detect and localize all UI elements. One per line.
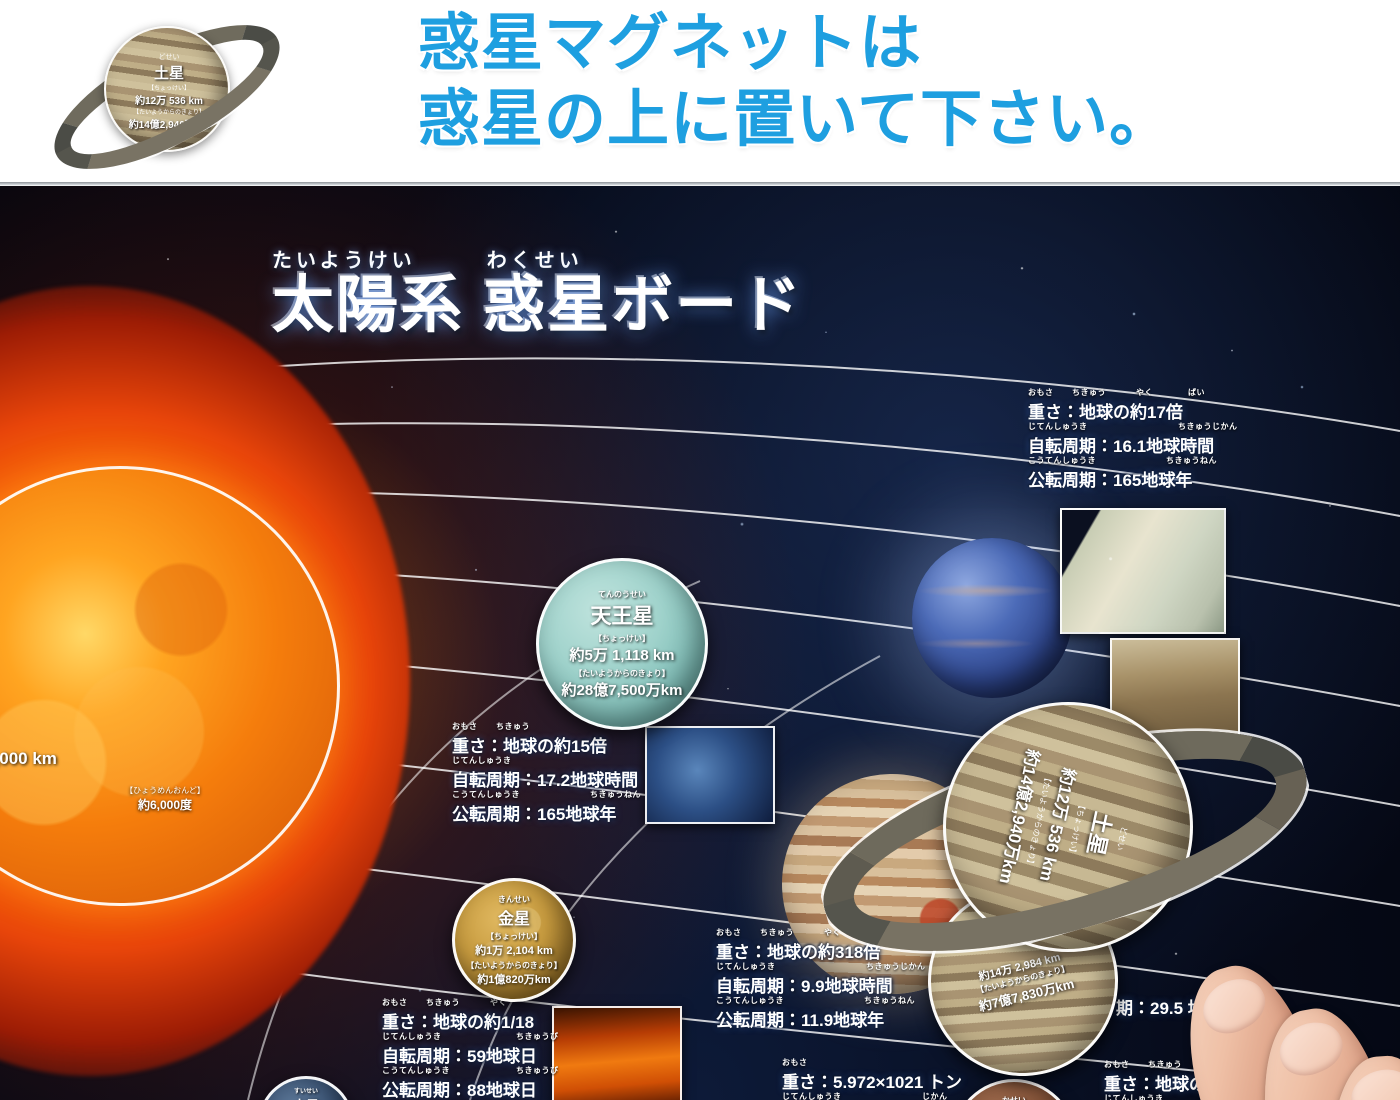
uranus-rotation-line: じてんしゅうき 自転周期：17.2地球時間 [452, 766, 638, 791]
ruby-jiten: じてんしゅうき [1028, 421, 1088, 432]
ruby-chikyu: ちきゅう [1072, 387, 1106, 398]
venus-magnet-name-ruby: きんせい [498, 894, 530, 905]
ruby-jiten: じてんしゅうき [716, 961, 776, 972]
venus-diameter-label: 【ちょっけい】 [486, 931, 542, 942]
earth-info-block: おもさ 重さ：5.972×1021 トン じてんしゅうき じかん ふん 自転周期… [782, 1068, 962, 1100]
uranus-revolution: 公転周期：165地球年 [452, 805, 616, 824]
ruby-omosa: おもさ [716, 927, 742, 938]
ruby-yaku: やく [1136, 387, 1153, 398]
venus-diameter: 約1万 2,104 km [475, 942, 553, 958]
ruby-chikyunen: ちきゅうねん [590, 789, 641, 800]
ruby-omosa: おもさ [1028, 387, 1054, 398]
uranus-mass-line: おもさ ちきゅう 重さ：地球の約15倍 [452, 732, 638, 757]
uranus-diameter: 約5万 1,118 km [569, 644, 674, 665]
mars-magnet-name-ruby: かせい [1002, 1095, 1026, 1100]
fingernail [1194, 969, 1274, 1043]
magnet-name-ruby: どせい [106, 52, 232, 62]
neptune-revolution-line: こうてんしゅうき ちきゅうねん 公転周期：165地球年 [1028, 466, 1214, 491]
ruby-omosa: おもさ [382, 997, 408, 1008]
sun: たいよう 太陽 【ちょっけい】 約139万 2,000 km 【ひょうめんおんど… [0, 286, 410, 1076]
neptune-rotation: 自転周期：16.1地球時間 [1028, 437, 1214, 456]
ruby-jiten: じてんしゅうき [452, 755, 512, 766]
venus-magnet-name: 金星 [498, 905, 530, 929]
sun-diameter-label: 【ちょっけい】 [0, 733, 57, 744]
instruction-line-2: 惑星の上に置いて下さい。 [418, 82, 1318, 158]
magnet-venus[interactable]: きんせい 金星 【ちょっけい】 約1万 2,104 km 【たいようからのきょり… [452, 878, 576, 1002]
uranus-magnet-name: 天王星 [591, 600, 654, 630]
earth-mass-line: おもさ 重さ：5.972×1021 トン [782, 1068, 962, 1093]
venus-mass: 重さ：地球の約1/18 [382, 1013, 534, 1032]
ruby-kouten: こうてんしゅうき [716, 995, 784, 1006]
venus-surface-photo [552, 1006, 682, 1100]
hand-holding-magnet [1180, 946, 1400, 1100]
fingernail [1272, 1014, 1350, 1084]
ruby-bai: ばい [1188, 387, 1205, 398]
ruby-jikan: じかん [922, 1091, 948, 1100]
neptune-mass: 重さ：地球の約17倍 [1028, 403, 1183, 422]
page-root: どせい 土星 【ちょっけい】 約12万 536 km 【たいようからのきょり】 … [0, 0, 1400, 1100]
venus-revolution-line: こうてんしゅうき ちきゅうび 公転周期：88地球日 [382, 1076, 537, 1100]
header-saturn-magnet[interactable]: どせい 土星 【ちょっけい】 約12万 536 km 【たいようからのきょり】 … [42, 6, 292, 182]
board-title-main: 太陽系 惑星ボード [272, 273, 912, 338]
mercury-magnet-name: 水星 [293, 1095, 319, 1100]
neptune-info-block: おもさ ちきゅう やく ばい 重さ：地球の約17倍 じてんしゅうき ちきゅうじか… [1028, 398, 1214, 500]
title-ruby-2: わくせい [487, 250, 583, 272]
uranus-diameter-label: 【ちょっけい】 [594, 633, 650, 644]
sun-name: 太陽 [0, 704, 57, 731]
sun-temp-value: 約6,000度 [100, 797, 230, 813]
ruby-kouten: こうてんしゅうき [1028, 455, 1096, 466]
uranus-revolution-line: こうてんしゅうき ちきゅうねん 公転周期：165地球年 [452, 800, 638, 825]
ruby-chikyu: ちきゅう [760, 927, 794, 938]
header-instruction: 惑星マグネットは 惑星の上に置いて下さい。 [418, 6, 1318, 157]
venus-mass-line: おもさ ちきゅう やく 重さ：地球の約1/18 [382, 1008, 537, 1033]
header-banner: どせい 土星 【ちょっけい】 約12万 536 km 【たいようからのきょり】 … [0, 0, 1400, 186]
venus-rotation-line: じてんしゅうき ちきゅうび 自転周期：59地球日 [382, 1042, 537, 1067]
uranus-surface-photo [645, 726, 775, 824]
ruby-chikyunichi: ちきゅうび [516, 1065, 559, 1076]
ruby-kouten: こうてんしゅうき [452, 789, 520, 800]
ruby-omosa: おもさ [452, 721, 478, 732]
ruby-chikyunichi: ちきゅうび [516, 1031, 559, 1042]
venus-distance: 約1億820万km [477, 971, 550, 987]
venus-distance-label: 【たいようからのきょり】 [466, 960, 562, 971]
uranus-rotation: 自転周期：17.2地球時間 [452, 771, 638, 790]
ruby-jiten: じてんしゅうき [382, 1031, 442, 1042]
neptune-surface-photo [1060, 508, 1226, 634]
sun-temperature: 【ひょうめんおんど】 約6,000度 [100, 786, 230, 813]
uranus-mass: 重さ：地球の約15倍 [452, 737, 607, 756]
venus-revolution: 公転周期：88地球日 [382, 1081, 537, 1100]
uranus-magnet-name-ruby: てんのうせい [598, 589, 646, 600]
ruby-chikyujikan: ちきゅうじかん [1178, 421, 1238, 432]
neptune-revolution: 公転周期：165地球年 [1028, 471, 1192, 490]
ruby-jiten: じてんしゅうき [1104, 1093, 1164, 1100]
title-ruby-1: たいようけい [272, 250, 416, 272]
earth-mass: 重さ：5.972×1021 トン [782, 1073, 962, 1092]
ruby-chikyu: ちきゅう [1148, 1059, 1182, 1070]
board-title-ruby: たいようけい わくせい [272, 244, 912, 273]
sun-label: たいよう 太陽 【ちょっけい】 約139万 2,000 km [0, 704, 57, 769]
ruby-chikyunen: ちきゅうねん [1166, 455, 1217, 466]
magnet-uranus[interactable]: てんのうせい 天王星 【ちょっけい】 約5万 1,118 km 【たいようからの… [536, 558, 708, 730]
venus-rotation: 自転周期：59地球日 [382, 1047, 537, 1066]
instruction-line-1: 惑星マグネットは [418, 6, 1318, 82]
uranus-info-block: おもさ ちきゅう 重さ：地球の約15倍 じてんしゅうき 自転周期：17.2地球時… [452, 732, 638, 834]
sun-temp-label: 【ひょうめんおんど】 [100, 786, 230, 797]
venus-info-block: おもさ ちきゅう やく 重さ：地球の約1/18 じてんしゅうき ちきゅうび 自転… [382, 1008, 537, 1100]
ruby-omosa: おもさ [1104, 1059, 1130, 1070]
neptune-rotation-line: じてんしゅうき ちきゅうじかん 自転周期：16.1地球時間 [1028, 432, 1214, 457]
solar-system-board: たいよう 太陽 【ちょっけい】 約139万 2,000 km 【ひょうめんおんど… [0, 186, 1400, 1100]
uranus-distance-label: 【たいようからのきょり】 [574, 668, 670, 679]
board-title: たいようけい わくせい 太陽系 惑星ボード [272, 244, 912, 338]
sun-diameter: 約139万 2,000 km [0, 744, 57, 769]
uranus-distance: 約28億7,500万km [562, 679, 683, 700]
ruby-jiten: じてんしゅうき [782, 1091, 842, 1100]
mercury-magnet-name-ruby: すいせい [294, 1086, 318, 1095]
ruby-chikyu: ちきゅう [496, 721, 530, 732]
neptune-mass-line: おもさ ちきゅう やく ばい 重さ：地球の約17倍 [1028, 398, 1214, 423]
ruby-kouten: こうてんしゅうき [382, 1065, 450, 1076]
ruby-omosa: おもさ [782, 1057, 808, 1068]
ruby-chikyu: ちきゅう [426, 997, 460, 1008]
